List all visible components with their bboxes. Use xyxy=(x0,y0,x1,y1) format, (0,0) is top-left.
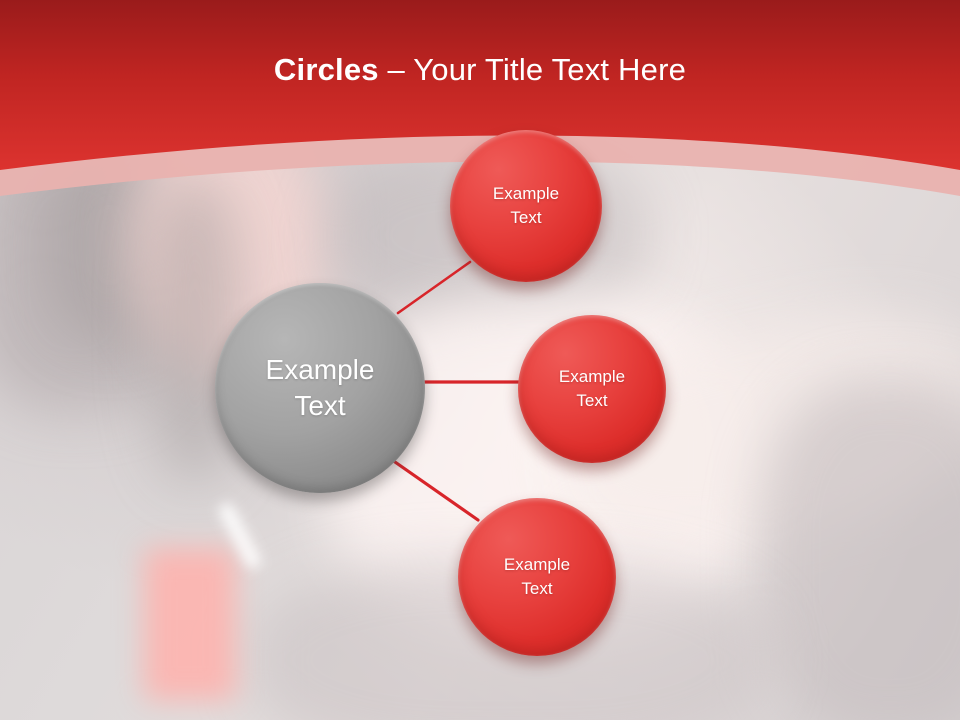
diagram-node-middle-label-line1: Example xyxy=(559,367,625,386)
diagram-node-top-label-line2: Text xyxy=(510,208,541,227)
slide-canvas: Circles – Your Title Text Here Example T… xyxy=(0,0,960,720)
diagram-node-middle-label: Example Text xyxy=(559,365,625,413)
diagram-hub-label-line1: Example xyxy=(266,354,375,385)
diagram-node-bottom-label-line2: Text xyxy=(521,579,552,598)
diagram-node-bottom[interactable]: Example Text xyxy=(458,498,616,656)
diagram-node-middle-label-line2: Text xyxy=(576,391,607,410)
diagram-hub-node[interactable]: Example Text xyxy=(215,283,425,493)
page-title: Circles – Your Title Text Here xyxy=(0,50,960,90)
diagram-node-top-label: Example Text xyxy=(493,182,559,230)
background-blob xyxy=(760,380,960,720)
diagram-hub-label: Example Text xyxy=(266,352,375,424)
diagram-node-bottom-label: Example Text xyxy=(504,553,570,601)
page-title-rest: – Your Title Text Here xyxy=(379,52,686,87)
diagram-node-bottom-label-line1: Example xyxy=(504,555,570,574)
diagram-node-top-label-line1: Example xyxy=(493,184,559,203)
diagram-hub-label-line2: Text xyxy=(294,390,345,421)
page-title-bold: Circles xyxy=(274,52,379,87)
background-blob xyxy=(144,548,236,700)
diagram-node-middle[interactable]: Example Text xyxy=(518,315,666,463)
diagram-node-top[interactable]: Example Text xyxy=(450,130,602,282)
